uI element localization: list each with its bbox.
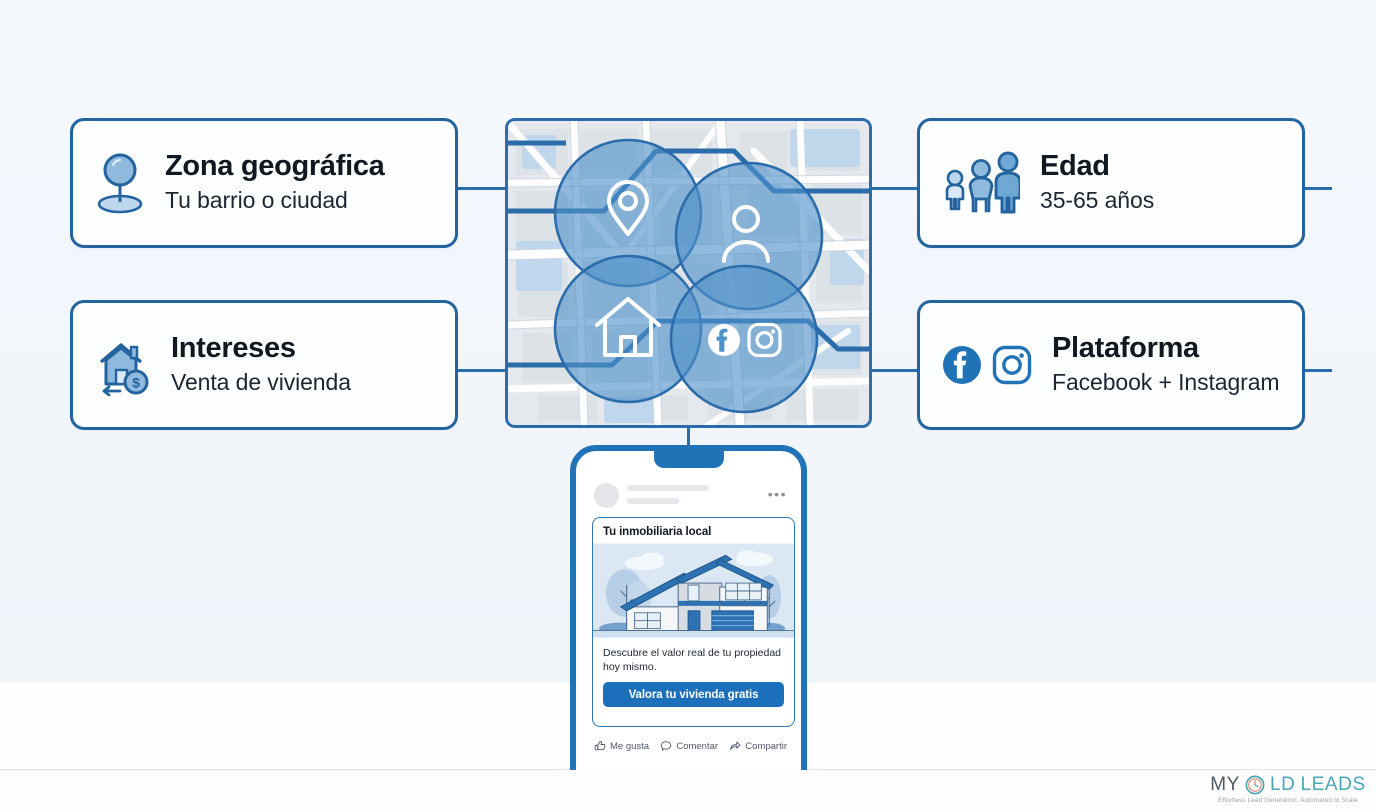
card-edad[interactable]: Edad 35-65 años: [917, 118, 1305, 248]
facebook-instagram-icon: [942, 345, 1032, 385]
logo-tagline: Effortless Lead Generation. Automated to…: [1208, 797, 1368, 804]
phone-notch: [654, 451, 724, 468]
skeleton-line: [627, 498, 679, 504]
comment-bubble-icon: [660, 740, 672, 752]
svg-text:$: $: [132, 375, 140, 391]
ad-body-text: Descubre el valor real de tu propiedad h…: [593, 638, 794, 679]
card-title: Edad: [1040, 150, 1154, 183]
share-label: Compartir: [745, 741, 787, 752]
skeleton-line: [627, 485, 709, 491]
post-header: •••: [594, 481, 787, 515]
thumbs-up-icon: [594, 740, 606, 752]
map-pin-icon: [95, 152, 145, 214]
post-actions: Me gusta Comentar Compartir: [594, 736, 787, 756]
logo-word-ld: LD: [1270, 774, 1296, 796]
post-menu-icon[interactable]: •••: [768, 487, 787, 501]
house-illustration: [593, 543, 794, 638]
house-sale-icon: $: [95, 334, 151, 396]
card-title: Intereses: [171, 332, 351, 365]
connector-right-bottom-stub: [1302, 369, 1332, 372]
ad-cta-button[interactable]: Valora tu vivienda gratis: [603, 682, 784, 707]
card-subtitle: 35-65 años: [1040, 186, 1154, 216]
logo-word-leads: LEADS: [1300, 774, 1365, 796]
people-group-icon: [942, 151, 1020, 215]
connector-left-top-to-map: [456, 187, 508, 190]
card-subtitle: Venta de vivienda: [171, 368, 351, 398]
logo-word-my: MY: [1210, 774, 1240, 796]
logo-wordmark: MY LD LEADS: [1208, 774, 1368, 796]
like-action[interactable]: Me gusta: [594, 740, 649, 752]
phone-mockup: ••• Tu inmobiliaria local: [570, 445, 807, 770]
facebook-icon: [942, 345, 982, 385]
share-action[interactable]: Compartir: [729, 740, 787, 752]
connector-right-top-stub: [1302, 187, 1332, 190]
card-subtitle: Tu barrio o ciudad: [165, 186, 385, 216]
card-title: Plataforma: [1052, 332, 1279, 365]
card-subtitle: Facebook + Instagram: [1052, 368, 1279, 398]
comment-label: Comentar: [676, 741, 718, 752]
ad-title: Tu inmobiliaria local: [593, 518, 794, 543]
card-intereses[interactable]: $ Intereses Venta de vivienda: [70, 300, 458, 430]
ad-card[interactable]: Tu inmobiliaria local: [592, 517, 795, 727]
card-plataforma[interactable]: Plataforma Facebook + Instagram: [917, 300, 1305, 430]
brand-logo[interactable]: MY LD LEADS Effortless Lead Generation. …: [1208, 774, 1368, 806]
avatar: [594, 483, 619, 508]
infographic-canvas: Zona geográfica Tu barrio o ciudad $ Int…: [0, 0, 1376, 812]
connector-left-bottom-to-map: [456, 369, 508, 372]
instagram-icon: [992, 345, 1032, 385]
phone-frame: ••• Tu inmobiliaria local: [570, 445, 807, 770]
card-zona-geografica[interactable]: Zona geográfica Tu barrio o ciudad: [70, 118, 458, 248]
comment-action[interactable]: Comentar: [660, 740, 718, 752]
like-label: Me gusta: [610, 741, 649, 752]
clock-circle-icon: [1245, 775, 1265, 795]
targeting-map[interactable]: [505, 118, 872, 428]
card-title: Zona geográfica: [165, 150, 385, 183]
share-arrow-icon: [729, 740, 741, 752]
